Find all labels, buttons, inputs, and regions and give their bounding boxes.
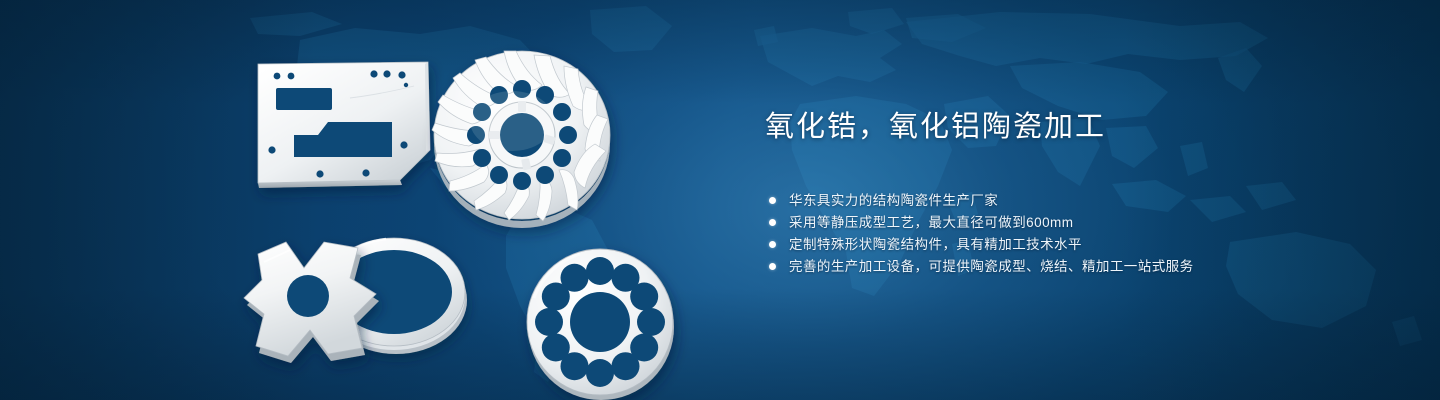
bullet-dot-icon: [769, 219, 776, 226]
list-item-label: 完善的生产加工设备，可提供陶瓷成型、烧结、精加工一站式服务: [789, 256, 1194, 278]
list-item: 采用等静压成型工艺，最大直径可做到600mm: [769, 212, 1365, 234]
promo-banner: 氧化锆，氧化铝陶瓷加工 华东具实力的结构陶瓷件生产厂家 采用等静压成型工艺，最大…: [0, 0, 1440, 400]
ceramic-hole-flange: [527, 249, 674, 400]
copy-block: 氧化锆，氧化铝陶瓷加工 华东具实力的结构陶瓷件生产厂家 采用等静压成型工艺，最大…: [765, 110, 1365, 278]
list-item: 定制特殊形状陶瓷结构件，具有精加工技术水平: [769, 234, 1365, 256]
bullet-dot-icon: [769, 241, 776, 248]
headline: 氧化锆，氧化铝陶瓷加工: [765, 110, 1365, 146]
list-item-label: 定制特殊形状陶瓷结构件，具有精加工技术水平: [789, 234, 1082, 256]
list-item: 完善的生产加工设备，可提供陶瓷成型、烧结、精加工一站式服务: [769, 256, 1365, 278]
ceramic-plate: [258, 62, 430, 188]
product-photo-group: [232, 40, 702, 380]
bullet-dot-icon: [769, 197, 776, 204]
ceramic-impeller: [432, 51, 610, 228]
list-item-label: 华东具实力的结构陶瓷件生产厂家: [789, 190, 998, 212]
list-item-label: 采用等静压成型工艺，最大直径可做到600mm: [789, 212, 1073, 234]
ceramic-cross-plate: [244, 242, 379, 363]
feature-list: 华东具实力的结构陶瓷件生产厂家 采用等静压成型工艺，最大直径可做到600mm 定…: [769, 190, 1365, 278]
bullet-dot-icon: [769, 263, 776, 270]
list-item: 华东具实力的结构陶瓷件生产厂家: [769, 190, 1365, 212]
